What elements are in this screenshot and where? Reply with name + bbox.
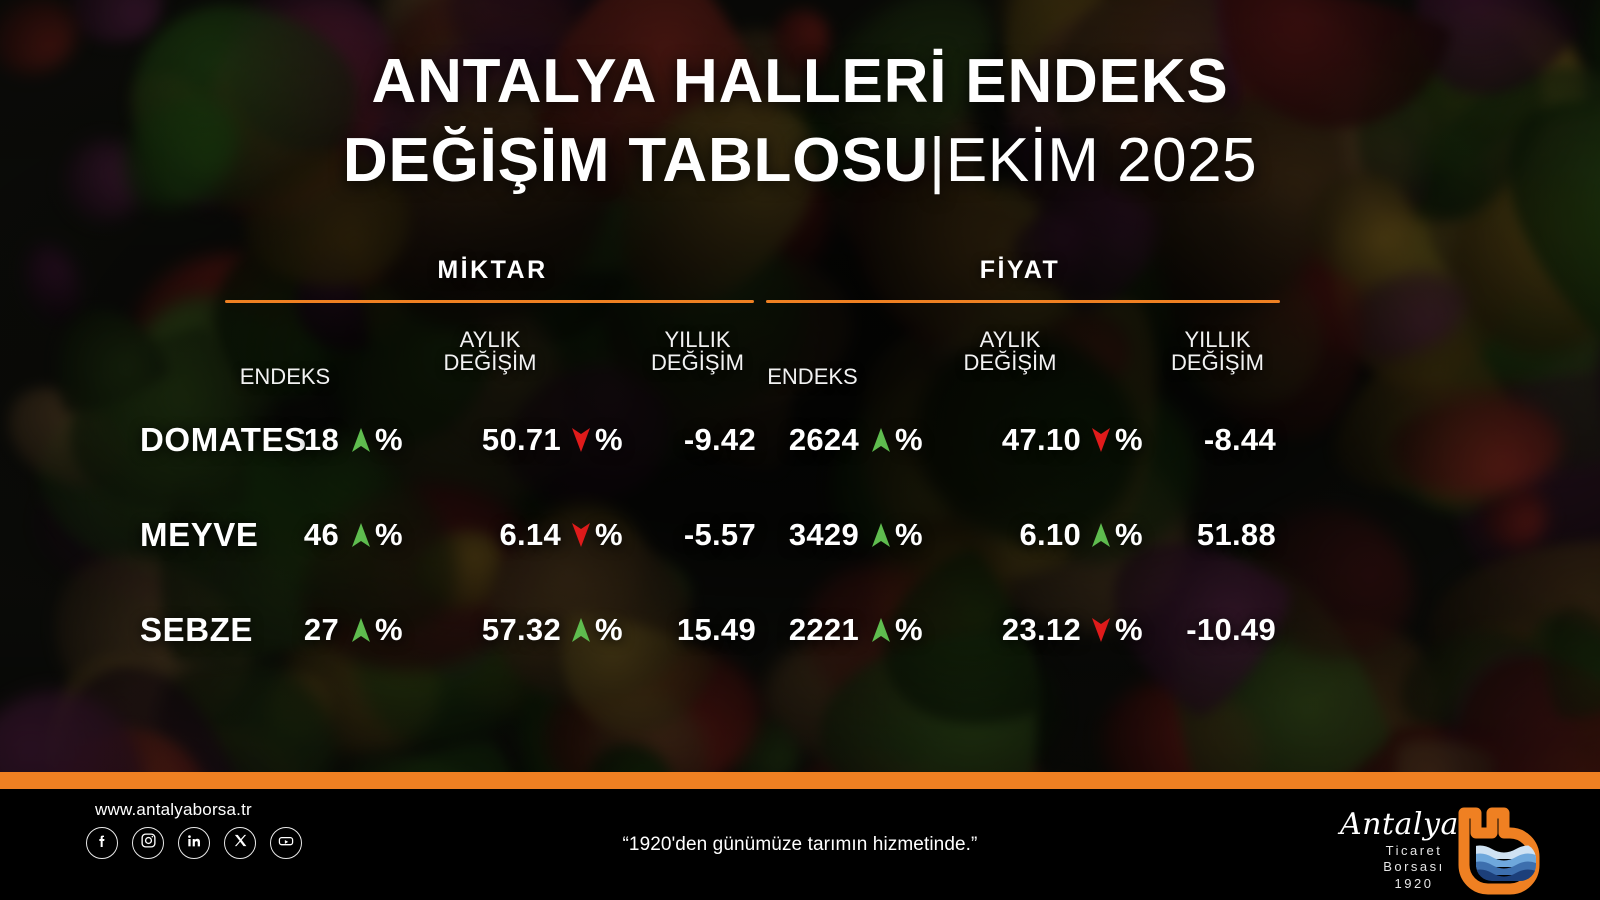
arrow-up-icon [871,617,891,643]
logo-subtitle: Ticaret Borsası 1920 [1354,843,1474,892]
cell-miktar-yillik-indicator: % [565,612,635,648]
table-row: MEYVE46%6.14%-5.573429%6.10%51.88 [0,487,1600,582]
header-fiyat-aylik-l1: AYLIK [980,327,1041,352]
percent-symbol: % [375,517,403,553]
column-header-row: ENDEKS AYLIK DEĞİŞİM YILLIK DEĞİŞİM ENDE… [0,310,1600,392]
arrow-up-icon [571,617,591,643]
cell-fiyat-aylik-indicator: % [865,612,935,648]
percent-symbol: % [1115,612,1143,648]
row-label: MEYVE [0,516,225,554]
cell-fiyat-aylik-indicator: % [865,517,935,553]
cell-fiyat-yillik-value: -8.44 [1155,422,1280,458]
section-title-miktar: MİKTAR [225,256,760,285]
header-miktar-yillik: YILLIK DEĞİŞİM [635,328,760,375]
divider-fiyat [766,300,1280,303]
cell-fiyat-yillik-indicator: % [1085,517,1155,553]
header-fiyat-aylik-l2: DEĞİŞİM [964,350,1057,375]
arrow-down-icon [571,522,591,548]
footer: www.antalyaborsa.tr “1920'den günümüze t… [0,789,1600,900]
table-row: DOMATES18%50.71%-9.422624%47.10%-8.44 [0,392,1600,487]
cell-fiyat-yillik-indicator: % [1085,422,1155,458]
cell-fiyat-yillik-indicator: % [1085,612,1155,648]
percent-symbol: % [375,422,403,458]
index-change-table: MİKTAR FİYAT ENDEKS AYLIK DEĞİŞİM YILLIK… [0,248,1600,677]
logo-sub-line3: 1920 [1395,876,1434,891]
arrow-up-icon [351,617,371,643]
divider-miktar [225,300,754,303]
arrow-up-icon [1091,522,1111,548]
percent-symbol: % [1115,517,1143,553]
cell-fiyat-aylik-value: 47.10 [935,422,1085,458]
cell-fiyat-endeks: 3429 [760,517,865,553]
percent-symbol: % [595,517,623,553]
percent-symbol: % [895,422,923,458]
arrow-up-icon [871,427,891,453]
cell-fiyat-aylik-value: 23.12 [935,612,1085,648]
arrow-up-icon [871,522,891,548]
cell-fiyat-yillik-value: -10.49 [1155,612,1280,648]
cell-fiyat-endeks: 2624 [760,422,865,458]
table-body: DOMATES18%50.71%-9.422624%47.10%-8.44MEY… [0,392,1600,677]
cell-miktar-aylik-value: 6.14 [415,517,565,553]
percent-symbol: % [595,422,623,458]
title-line-1: ANTALYA HALLERİ ENDEKS [0,52,1600,113]
header-miktar-endeks: ENDEKS [225,365,345,392]
header-fiyat-aylik: AYLIK DEĞİŞİM [935,328,1085,375]
arrow-down-icon [1091,427,1111,453]
poster-canvas: ANTALYA HALLERİ ENDEKS DEĞİŞİM TABLOSU|E… [0,0,1600,900]
header-fiyat-endeks: ENDEKS [760,365,865,392]
title-period: EKİM 2025 [946,126,1257,195]
header-fiyat-yillik: YILLIK DEĞİŞİM [1155,328,1280,375]
logo-sub-line2: Borsası [1383,859,1445,874]
cell-fiyat-aylik-indicator: % [865,422,935,458]
cell-miktar-yillik-indicator: % [565,422,635,458]
cell-miktar-aylik-value: 57.32 [415,612,565,648]
cell-miktar-aylik-indicator: % [345,517,415,553]
section-title-fiyat: FİYAT [760,256,1280,285]
header-miktar-aylik-l1: AYLIK [460,327,521,352]
title-line-2-bold: DEĞİŞİM TABLOSU [343,126,929,195]
title-separator: | [929,126,946,195]
page-title: ANTALYA HALLERİ ENDEKS DEĞİŞİM TABLOSU|E… [0,52,1600,192]
cell-fiyat-aylik-value: 6.10 [935,517,1085,553]
header-fiyat-yillik-l2: DEĞİŞİM [1171,350,1264,375]
cell-fiyat-yillik-value: 51.88 [1155,517,1280,553]
percent-symbol: % [375,612,403,648]
cell-miktar-yillik-indicator: % [565,517,635,553]
header-fiyat-yillik-l1: YILLIK [1184,327,1250,352]
cell-miktar-yillik-value: -5.57 [635,517,760,553]
percent-symbol: % [595,612,623,648]
percent-symbol: % [895,517,923,553]
arrow-up-icon [351,427,371,453]
header-miktar-aylik: AYLIK DEĞİŞİM [415,328,565,375]
cell-miktar-aylik-indicator: % [345,612,415,648]
cell-miktar-aylik-value: 50.71 [415,422,565,458]
arrow-up-icon [351,522,371,548]
header-miktar-yillik-l2: DEĞİŞİM [651,350,744,375]
cell-miktar-endeks: 27 [225,612,345,648]
cell-miktar-yillik-value: 15.49 [635,612,760,648]
arrow-down-icon [1091,617,1111,643]
company-logo: Antalya Ticaret Borsası 1920 [1332,795,1542,895]
header-miktar-yillik-l1: YILLIK [664,327,730,352]
percent-symbol: % [895,612,923,648]
logo-sub-line1: Ticaret [1386,843,1443,858]
row-label: DOMATES [0,421,225,459]
cell-miktar-endeks: 18 [225,422,345,458]
table-row: SEBZE27%57.32%15.492221%23.12%-10.49 [0,582,1600,677]
section-divider-row [0,292,1600,310]
logo-wordmark: Antalya [1340,807,1459,842]
cell-miktar-aylik-indicator: % [345,422,415,458]
section-title-row: MİKTAR FİYAT [0,248,1600,292]
arrow-down-icon [571,427,591,453]
orange-accent-bar [0,772,1600,789]
header-miktar-aylik-l2: DEĞİŞİM [444,350,537,375]
title-line-2: DEĞİŞİM TABLOSU|EKİM 2025 [0,131,1600,192]
cell-miktar-endeks: 46 [225,517,345,553]
percent-symbol: % [1115,422,1143,458]
cell-fiyat-endeks: 2221 [760,612,865,648]
cell-miktar-yillik-value: -9.42 [635,422,760,458]
row-label: SEBZE [0,611,225,649]
